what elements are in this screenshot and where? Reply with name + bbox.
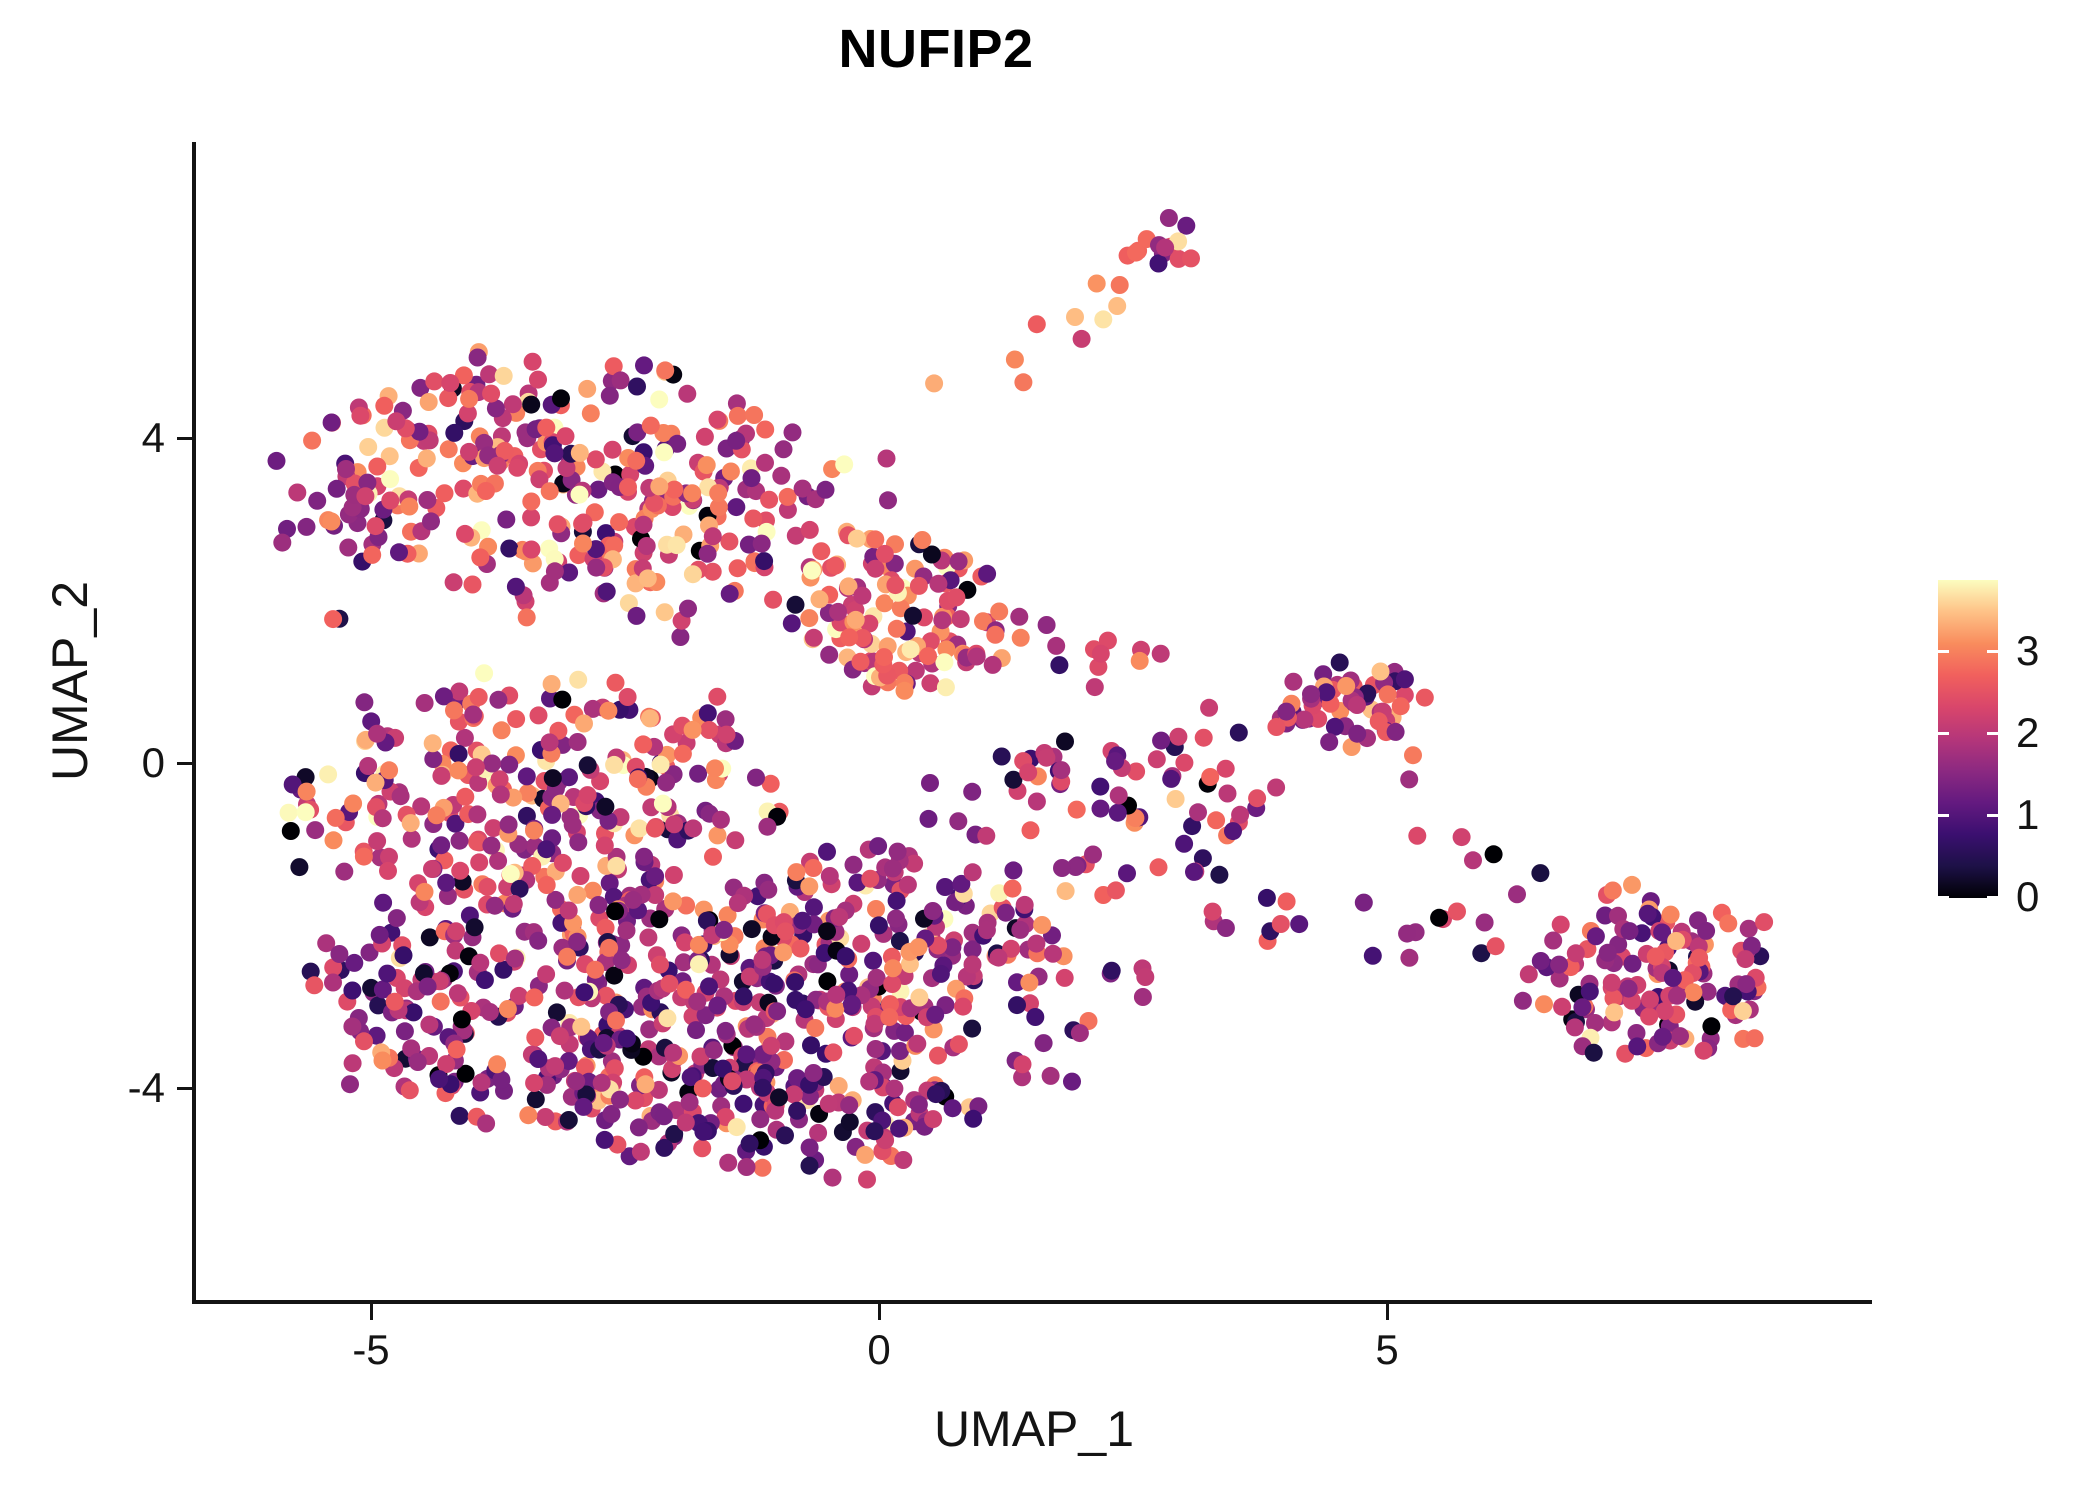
scatter-point bbox=[545, 444, 563, 462]
scatter-point bbox=[899, 876, 917, 894]
scatter-point bbox=[883, 975, 901, 993]
y-tick-label: 4 bbox=[142, 414, 165, 462]
scatter-point bbox=[1372, 663, 1390, 681]
scatter-point bbox=[1573, 998, 1591, 1016]
scatter-point bbox=[805, 629, 823, 647]
scatter-point bbox=[1485, 845, 1503, 863]
scatter-point bbox=[848, 530, 866, 548]
scatter-point bbox=[841, 1113, 859, 1131]
scatter-point bbox=[1404, 746, 1422, 764]
scatter-point bbox=[678, 385, 696, 403]
scatter-point bbox=[921, 774, 939, 792]
scatter-point bbox=[607, 857, 625, 875]
scatter-point bbox=[1103, 962, 1121, 980]
scatter-point bbox=[355, 1032, 373, 1050]
scatter-point bbox=[1531, 864, 1549, 882]
scatter-point bbox=[567, 1072, 585, 1090]
scatter-point bbox=[339, 539, 357, 557]
page-title: NUFIP2 bbox=[0, 18, 1872, 80]
scatter-point bbox=[674, 745, 692, 763]
scatter-point bbox=[727, 498, 745, 516]
scatter-point bbox=[830, 908, 848, 926]
scatter-point bbox=[476, 971, 494, 989]
scatter-point bbox=[1042, 1067, 1060, 1085]
scatter-point bbox=[1118, 864, 1136, 882]
scatter-point bbox=[477, 1115, 495, 1133]
scatter-point bbox=[1331, 654, 1349, 672]
scatter-point bbox=[944, 1099, 962, 1117]
scatter-point bbox=[745, 1015, 763, 1033]
scatter-point bbox=[1136, 968, 1154, 986]
scatter-point bbox=[888, 620, 906, 638]
scatter-point bbox=[451, 832, 469, 850]
scatter-point bbox=[910, 577, 928, 595]
scatter-point bbox=[381, 492, 399, 510]
scatter-point bbox=[925, 374, 943, 392]
scatter-point bbox=[952, 610, 970, 628]
scatter-point bbox=[788, 1102, 806, 1120]
scatter-point bbox=[729, 559, 747, 577]
scatter-point bbox=[1464, 851, 1482, 869]
scatter-point bbox=[1654, 1028, 1672, 1046]
scatter-point bbox=[1746, 1029, 1764, 1047]
scatter-point bbox=[596, 837, 614, 855]
scatter-point bbox=[870, 916, 888, 934]
scatter-point bbox=[522, 493, 540, 511]
scatter-point bbox=[728, 1118, 746, 1136]
scatter-point bbox=[428, 806, 446, 824]
scatter-point bbox=[355, 693, 373, 711]
colorbar-tick-mark bbox=[1987, 896, 1998, 899]
scatter-point bbox=[624, 891, 642, 909]
scatter-point bbox=[699, 704, 717, 722]
scatter-point bbox=[569, 733, 587, 751]
scatter-point bbox=[543, 806, 561, 824]
scatter-point bbox=[506, 950, 524, 968]
scatter-point bbox=[445, 701, 463, 719]
scatter-point bbox=[482, 837, 500, 855]
scatter-point bbox=[1544, 932, 1562, 950]
scatter-point bbox=[824, 1169, 842, 1187]
scatter-point bbox=[726, 831, 744, 849]
scatter-point bbox=[801, 1157, 819, 1175]
scatter-point bbox=[541, 733, 559, 751]
scatter-point bbox=[738, 1158, 756, 1176]
scatter-point bbox=[579, 786, 597, 804]
scatter-point bbox=[860, 1073, 878, 1091]
scatter-point bbox=[1734, 1002, 1752, 1020]
scatter-point bbox=[1230, 724, 1248, 742]
scatter-point bbox=[1167, 790, 1185, 808]
scatter-point bbox=[569, 833, 587, 851]
scatter-point bbox=[889, 843, 907, 861]
scatter-point bbox=[993, 748, 1011, 766]
scatter-point bbox=[776, 922, 794, 940]
scatter-point bbox=[803, 562, 821, 580]
scatter-point bbox=[1302, 685, 1320, 703]
scatter-point bbox=[949, 812, 967, 830]
scatter-point bbox=[522, 541, 540, 559]
scatter-point bbox=[885, 1080, 903, 1098]
scatter-point bbox=[529, 1050, 547, 1068]
scatter-point bbox=[1430, 909, 1448, 927]
scatter-point bbox=[1396, 670, 1414, 688]
scatter-point bbox=[654, 795, 672, 813]
colorbar-tick-mark bbox=[1938, 896, 1949, 899]
scatter-point bbox=[794, 480, 812, 498]
scatter-point bbox=[927, 1085, 945, 1103]
scatter-point bbox=[460, 390, 478, 408]
scatter-point bbox=[929, 575, 947, 593]
scatter-point bbox=[613, 951, 631, 969]
scatter-point bbox=[628, 378, 646, 396]
scatter-point bbox=[1755, 913, 1773, 931]
scatter-point bbox=[800, 877, 818, 895]
scatter-point bbox=[568, 886, 586, 904]
scatter-point bbox=[650, 477, 668, 495]
colorbar-tick-label: 3 bbox=[2016, 627, 2039, 675]
scatter-point bbox=[606, 902, 624, 920]
scatter-point bbox=[655, 1139, 673, 1157]
scatter-point bbox=[1267, 779, 1285, 797]
scatter-point bbox=[1182, 249, 1200, 267]
scatter-point bbox=[758, 818, 776, 836]
scatter-point bbox=[1127, 244, 1145, 262]
scatter-point bbox=[604, 441, 622, 459]
scatter-point bbox=[709, 997, 727, 1015]
scatter-point bbox=[436, 484, 454, 502]
scatter-point bbox=[537, 840, 555, 858]
scatter-point bbox=[656, 603, 674, 621]
scatter-point bbox=[762, 1037, 780, 1055]
scatter-point bbox=[560, 902, 578, 920]
scatter-point bbox=[1671, 1027, 1689, 1045]
scatter-point bbox=[745, 406, 763, 424]
scatter-point bbox=[1016, 896, 1034, 914]
scatter-point bbox=[379, 862, 397, 880]
scatter-point bbox=[802, 1036, 820, 1054]
scatter-point bbox=[904, 607, 922, 625]
scatter-point bbox=[418, 449, 436, 467]
scatter-point bbox=[646, 867, 664, 885]
scatter-point bbox=[582, 404, 600, 422]
scatter-point bbox=[1737, 975, 1755, 993]
scatter-point bbox=[1355, 894, 1373, 912]
scatter-point bbox=[990, 949, 1008, 967]
scatter-point bbox=[323, 513, 341, 531]
scatter-point bbox=[505, 895, 523, 913]
scatter-point bbox=[526, 1029, 544, 1047]
scatter-point bbox=[1552, 916, 1570, 934]
scatter-point bbox=[1056, 733, 1074, 751]
scatter-point bbox=[1508, 885, 1526, 903]
scatter-point bbox=[518, 767, 536, 785]
scatter-point bbox=[1160, 209, 1178, 227]
scatter-point bbox=[933, 611, 951, 629]
scatter-point bbox=[688, 993, 706, 1011]
scatter-point bbox=[689, 765, 707, 783]
scatter-point bbox=[1012, 629, 1030, 647]
scatter-point bbox=[1317, 683, 1335, 701]
scatter-point bbox=[536, 1108, 554, 1126]
scatter-point bbox=[328, 480, 346, 498]
scatter-point bbox=[1695, 1042, 1713, 1060]
scatter-point bbox=[1050, 656, 1068, 674]
scatter-point bbox=[677, 1114, 695, 1132]
scatter-point bbox=[1656, 1002, 1674, 1020]
scatter-point bbox=[374, 809, 392, 827]
scatter-point bbox=[924, 902, 942, 920]
scatter-point bbox=[1073, 330, 1091, 348]
scatter-point bbox=[1026, 1008, 1044, 1026]
scatter-point bbox=[635, 848, 653, 866]
scatter-point bbox=[471, 954, 489, 972]
scatter-point bbox=[481, 1003, 499, 1021]
scatter-point bbox=[618, 1030, 636, 1048]
scatter-point bbox=[785, 1085, 803, 1103]
scatter-point bbox=[735, 1095, 753, 1113]
scatter-point bbox=[837, 947, 855, 965]
scatter-point bbox=[629, 770, 647, 788]
scatter-point bbox=[440, 440, 458, 458]
scatter-point bbox=[471, 548, 489, 566]
scatter-point bbox=[843, 995, 861, 1013]
x-tick-label: 0 bbox=[867, 1326, 890, 1374]
scatter-point bbox=[684, 565, 702, 583]
scatter-point bbox=[451, 1107, 469, 1125]
scatter-point bbox=[288, 484, 306, 502]
scatter-point bbox=[522, 508, 540, 526]
scatter-point bbox=[368, 832, 386, 850]
scatter-point bbox=[1189, 803, 1207, 821]
scatter-point bbox=[655, 1107, 673, 1125]
scatter-point bbox=[910, 938, 928, 956]
scatter-point bbox=[852, 653, 870, 671]
scatter-point bbox=[1200, 699, 1218, 717]
scatter-point bbox=[554, 854, 572, 872]
scatter-point bbox=[754, 1079, 772, 1097]
scatter-point bbox=[525, 822, 543, 840]
scatter-point bbox=[571, 444, 589, 462]
scatter-point bbox=[525, 1074, 543, 1092]
scatter-point bbox=[812, 542, 830, 560]
scatter-point bbox=[964, 956, 982, 974]
scatter-point bbox=[1514, 992, 1532, 1010]
scatter-point bbox=[744, 510, 762, 528]
colorbar-tick-mark bbox=[1938, 650, 1949, 653]
scatter-point bbox=[1623, 876, 1641, 894]
scatter-point bbox=[1150, 858, 1168, 876]
scatter-point bbox=[706, 759, 724, 777]
scatter-point bbox=[1379, 685, 1397, 703]
scatter-point bbox=[845, 1027, 863, 1045]
scatter-point bbox=[835, 455, 853, 473]
scatter-point bbox=[660, 975, 678, 993]
scatter-point bbox=[467, 758, 485, 776]
scatter-point bbox=[896, 682, 914, 700]
scatter-point bbox=[618, 922, 636, 940]
scatter-point bbox=[1231, 806, 1249, 824]
scatter-point bbox=[806, 1019, 824, 1037]
scatter-point bbox=[420, 1016, 438, 1034]
scatter-point bbox=[978, 921, 996, 939]
scatter-point bbox=[1278, 893, 1296, 911]
scatter-point bbox=[470, 853, 488, 871]
scatter-point bbox=[665, 481, 683, 499]
scatter-point bbox=[866, 560, 884, 578]
scatter-point bbox=[380, 761, 398, 779]
scatter-point bbox=[698, 456, 716, 474]
scatter-point bbox=[508, 459, 526, 477]
scatter-point bbox=[1219, 785, 1237, 803]
colorbar-tick-label: 1 bbox=[2016, 791, 2039, 839]
scatter-point bbox=[1740, 920, 1758, 938]
scatter-point bbox=[541, 482, 559, 500]
scatter-point bbox=[529, 932, 547, 950]
scatter-point bbox=[306, 821, 324, 839]
scatter-point bbox=[430, 1070, 448, 1088]
scatter-point bbox=[1006, 351, 1024, 369]
scatter-point bbox=[804, 859, 822, 877]
scatter-point bbox=[1599, 944, 1617, 962]
scatter-point bbox=[381, 470, 399, 488]
scatter-point bbox=[305, 976, 323, 994]
scatter-point bbox=[1217, 760, 1235, 778]
scatter-point bbox=[684, 721, 702, 739]
scatter-point bbox=[500, 540, 518, 558]
scatter-point bbox=[1697, 922, 1715, 940]
scatter-point bbox=[493, 721, 511, 739]
scatter-point bbox=[884, 959, 902, 977]
scatter-point bbox=[717, 1022, 735, 1040]
scatter-point bbox=[687, 1021, 705, 1039]
scatter-point bbox=[908, 1035, 926, 1053]
scatter-point bbox=[665, 866, 683, 884]
colorbar-tick-label: 2 bbox=[2016, 709, 2039, 757]
scatter-point bbox=[694, 1123, 712, 1141]
x-tick-mark bbox=[878, 1304, 881, 1320]
scatter-point bbox=[840, 1096, 858, 1114]
scatter-point bbox=[273, 534, 291, 552]
scatter-point bbox=[605, 756, 623, 774]
scatter-point bbox=[400, 498, 418, 516]
scatter-point bbox=[441, 374, 459, 392]
scatter-point bbox=[1177, 217, 1195, 235]
scatter-point bbox=[818, 843, 836, 861]
scatter-point bbox=[375, 397, 393, 415]
scatter-point bbox=[432, 767, 450, 785]
scatter-point bbox=[456, 729, 474, 747]
scatter-point bbox=[696, 428, 714, 446]
scatter-point bbox=[416, 694, 434, 712]
scatter-point bbox=[544, 769, 562, 787]
scatter-point bbox=[764, 591, 782, 609]
scatter-point bbox=[453, 1010, 471, 1028]
scatter-point bbox=[386, 993, 404, 1011]
scatter-point bbox=[1348, 696, 1366, 714]
scatter-point bbox=[1400, 949, 1418, 967]
scatter-point bbox=[853, 587, 871, 605]
scatter-point bbox=[610, 513, 628, 531]
scatter-point bbox=[500, 816, 518, 834]
y-axis-title: UMAP_2 bbox=[41, 281, 99, 1081]
scatter-point bbox=[642, 417, 660, 435]
scatter-point bbox=[830, 1077, 848, 1095]
scatter-point bbox=[1667, 932, 1685, 950]
scatter-point bbox=[572, 867, 590, 885]
scatter-point bbox=[323, 414, 341, 432]
scatter-point bbox=[1092, 645, 1110, 663]
scatter-point bbox=[1553, 998, 1571, 1016]
scatter-point bbox=[634, 735, 652, 753]
scatter-point bbox=[756, 454, 774, 472]
scatter-point bbox=[479, 878, 497, 896]
scatter-point bbox=[420, 393, 438, 411]
scatter-point bbox=[387, 412, 405, 430]
scatter-point bbox=[586, 961, 604, 979]
scatter-point bbox=[1110, 786, 1128, 804]
scatter-point bbox=[324, 610, 342, 628]
scatter-point bbox=[473, 1073, 491, 1091]
scatter-point bbox=[978, 565, 996, 583]
scatter-point bbox=[1277, 703, 1295, 721]
scatter-point bbox=[575, 514, 593, 532]
scatter-point bbox=[1621, 922, 1639, 940]
scatter-point bbox=[1690, 949, 1708, 967]
scatter-point bbox=[1037, 749, 1055, 767]
scatter-point bbox=[679, 600, 697, 618]
scatter-point bbox=[612, 371, 630, 389]
scatter-point bbox=[690, 955, 708, 973]
scatter-point bbox=[753, 535, 771, 553]
scatter-point bbox=[1320, 733, 1338, 751]
scatter-point bbox=[424, 734, 442, 752]
scatter-point bbox=[319, 765, 337, 783]
scatter-point bbox=[858, 1171, 876, 1189]
scatter-point bbox=[821, 867, 839, 885]
scatter-point bbox=[590, 896, 608, 914]
scatter-point bbox=[1108, 297, 1126, 315]
scatter-point bbox=[770, 1088, 788, 1106]
scatter-point bbox=[936, 878, 954, 896]
scatter-point bbox=[913, 531, 931, 549]
scatter-point bbox=[1736, 950, 1754, 968]
scatter-point bbox=[445, 573, 463, 591]
scatter-point bbox=[303, 432, 321, 450]
colorbar-tick-label: 0 bbox=[2016, 873, 2039, 921]
plot-panel bbox=[196, 142, 1872, 1302]
scatter-point bbox=[827, 986, 845, 1004]
scatter-point bbox=[437, 874, 455, 892]
scatter-point bbox=[1106, 752, 1124, 770]
scatter-point bbox=[409, 1053, 427, 1071]
scatter-point bbox=[492, 786, 510, 804]
scatter-point bbox=[549, 515, 567, 533]
scatter-point bbox=[344, 1054, 362, 1072]
scatter-point bbox=[308, 492, 326, 510]
scatter-point bbox=[879, 491, 897, 509]
scatter-point bbox=[950, 552, 968, 570]
scatter-point bbox=[378, 965, 396, 983]
scatter-point bbox=[984, 656, 1002, 674]
scatter-point bbox=[344, 795, 362, 813]
scatter-point bbox=[1056, 969, 1074, 987]
scatter-point bbox=[1091, 778, 1109, 796]
scatter-point bbox=[811, 590, 829, 608]
scatter-point bbox=[445, 424, 463, 442]
scatter-point bbox=[1224, 822, 1242, 840]
scatter-point bbox=[557, 427, 575, 445]
